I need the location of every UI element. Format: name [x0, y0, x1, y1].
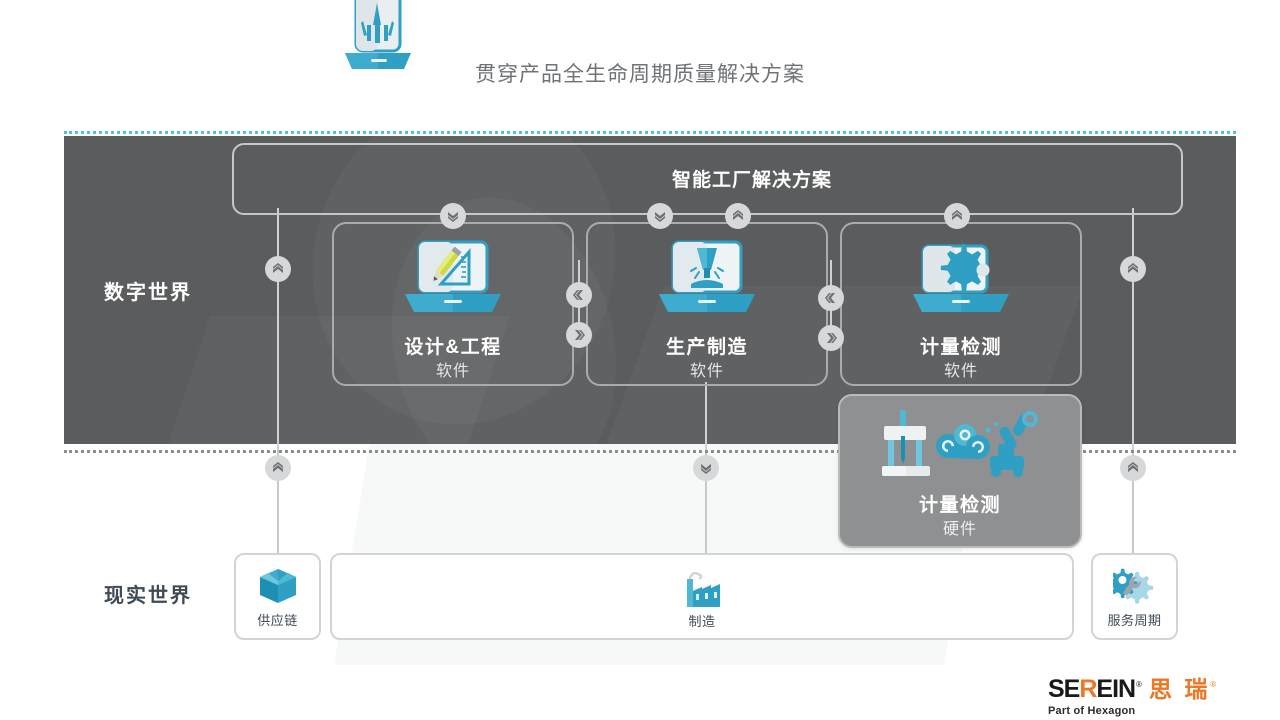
open-box-icon — [256, 567, 300, 607]
laptop-machining-icon — [651, 240, 763, 326]
real-world-label: 现实世界 — [104, 579, 192, 608]
laptop-design-icon — [397, 240, 509, 326]
chevron-up-metrology-to-banner[interactable] — [944, 203, 970, 229]
logo-wordmark-accent: R — [1079, 675, 1096, 703]
laptop-chart-icon — [337, 0, 419, 77]
serein-logo: SEREIN ® 思 瑞 ® Part of Hexagon — [1048, 670, 1216, 717]
laptop-gear-icon — [905, 240, 1017, 326]
chevron-down-production-to-manufacturing[interactable] — [693, 455, 719, 481]
factory-icon — [679, 571, 725, 609]
card-manufacturing[interactable]: 制造 — [330, 553, 1074, 640]
chevron-up-supply-left-rail[interactable] — [265, 256, 291, 282]
chevron-down-banner-to-production[interactable] — [647, 203, 673, 229]
card-supply-chain-label: 供应链 — [236, 610, 319, 629]
chevron-up-production-to-banner[interactable] — [725, 203, 751, 229]
chevron-up-service-right-rail[interactable] — [1120, 256, 1146, 282]
card-metrology-software-subtitle: 软件 — [842, 357, 1080, 381]
digital-world-label: 数字世界 — [104, 276, 192, 305]
card-metrology-hardware-subtitle: 硬件 — [840, 515, 1080, 539]
gear-wrench-icon — [1113, 567, 1157, 607]
chevron-right-production-metrology[interactable] — [818, 325, 844, 351]
chevron-left-production-metrology[interactable] — [818, 285, 844, 311]
page-title: 贯穿产品全生命周期质量解决方案 — [0, 58, 1280, 88]
digital-boundary-line-top — [64, 131, 1236, 134]
smart-factory-banner[interactable]: 智能工厂解决方案 — [232, 143, 1183, 215]
card-production-manufacturing-title: 生产制造 — [588, 332, 826, 359]
card-production-manufacturing-subtitle: 软件 — [588, 357, 826, 381]
smart-factory-banner-label: 智能工厂解决方案 — [672, 165, 832, 192]
card-service-cycle-label: 服务周期 — [1093, 610, 1176, 629]
logo-tagline: Part of Hexagon — [1048, 705, 1216, 717]
chevron-left-design-production[interactable] — [566, 282, 592, 308]
card-supply-chain[interactable]: 供应链 — [234, 553, 321, 640]
logo-chinese-trademark: ® — [1210, 680, 1216, 689]
slide-root: 贯穿产品全生命周期质量解决方案 数字世界 现实世界 — [0, 0, 1280, 720]
card-manufacturing-label: 制造 — [332, 611, 1072, 630]
rail-left-digital — [277, 208, 279, 450]
logo-trademark: ® — [1136, 680, 1142, 689]
logo-wordmark-right: EIN — [1096, 675, 1135, 703]
chevron-up-supply-bottom[interactable] — [265, 455, 291, 481]
card-design-engineering-subtitle: 软件 — [334, 357, 572, 381]
card-metrology-hardware-title: 计量检测 — [840, 490, 1080, 517]
logo-wordmark: SEREIN — [1048, 675, 1135, 704]
chevron-right-design-production[interactable] — [566, 322, 592, 348]
card-design-engineering[interactable]: 设计&工程 软件 — [332, 222, 574, 386]
logo-wordmark-left: SE — [1048, 675, 1079, 703]
logo-chinese-name: 思 瑞 — [1149, 670, 1210, 704]
card-service-cycle[interactable]: 服务周期 — [1091, 553, 1178, 640]
card-metrology-software[interactable]: 计量检测 软件 — [840, 222, 1082, 386]
card-metrology-hardware[interactable]: 计量检测 硬件 — [838, 394, 1082, 548]
card-production-manufacturing[interactable]: 生产制造 软件 — [586, 222, 828, 386]
rail-production-down-digital — [705, 382, 707, 450]
chevron-up-service-bottom[interactable] — [1120, 455, 1146, 481]
chevron-down-banner-to-design[interactable] — [440, 203, 466, 229]
cmm-robot-icon — [870, 406, 1050, 484]
card-design-engineering-title: 设计&工程 — [334, 332, 572, 359]
card-metrology-software-title: 计量检测 — [842, 332, 1080, 359]
rail-right-digital — [1132, 208, 1134, 450]
